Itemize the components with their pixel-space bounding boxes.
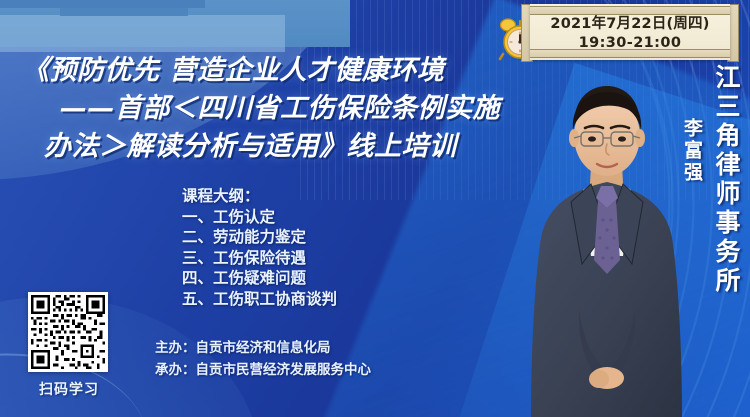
organizer-coorganizer: 承办：自贡市民营经济发展服务中心	[155, 359, 371, 381]
outline-heading: 课程大纲：	[182, 186, 337, 207]
outline-item-4: 四、工伤疑难问题	[182, 268, 337, 289]
page-title: 《预防优先 营造企业人才健康环境 ——首部＜四川省工伤保险条例实施 办法＞解读分…	[22, 52, 577, 166]
speaker-name: 李富强	[679, 118, 706, 184]
event-time: 19:30-21:00	[530, 34, 730, 53]
qr-caption: 扫码学习	[28, 379, 110, 399]
outline-item-5: 五、工伤职工协商谈判	[182, 289, 337, 310]
header-band-top-edge	[0, 0, 205, 8]
organizer-host: 主办：自贡市经济和信息化局	[155, 337, 371, 359]
outline-item-1: 一、工伤认定	[182, 207, 337, 228]
header-band-secondary	[0, 15, 285, 52]
date-banner-text: 2021年7月22日(周四) 19:30-21:00	[530, 15, 730, 52]
title-line-3: 办法＞解读分析与适用》线上培训	[22, 128, 577, 166]
course-outline: 课程大纲： 一、工伤认定 二、劳动能力鉴定 三、工伤保险待遇 四、工伤疑难问题 …	[182, 186, 337, 309]
outline-item-3: 三、工伤保险待遇	[182, 248, 337, 269]
qr-code-icon[interactable]	[28, 292, 108, 372]
training-poster: 江三角律师事务所 李富强	[0, 0, 750, 417]
organizer-info: 主办：自贡市经济和信息化局 承办：自贡市民营经济发展服务中心	[155, 337, 371, 381]
title-line-1: 《预防优先 营造企业人才健康环境	[22, 52, 577, 90]
title-line-2: ——首部＜四川省工伤保险条例实施	[22, 90, 577, 128]
law-firm-name: 江三角律师事务所	[708, 64, 744, 296]
qr-block: 扫码学习	[28, 292, 110, 399]
outline-item-2: 二、劳动能力鉴定	[182, 227, 337, 248]
event-date: 2021年7月22日(周四)	[530, 15, 730, 34]
